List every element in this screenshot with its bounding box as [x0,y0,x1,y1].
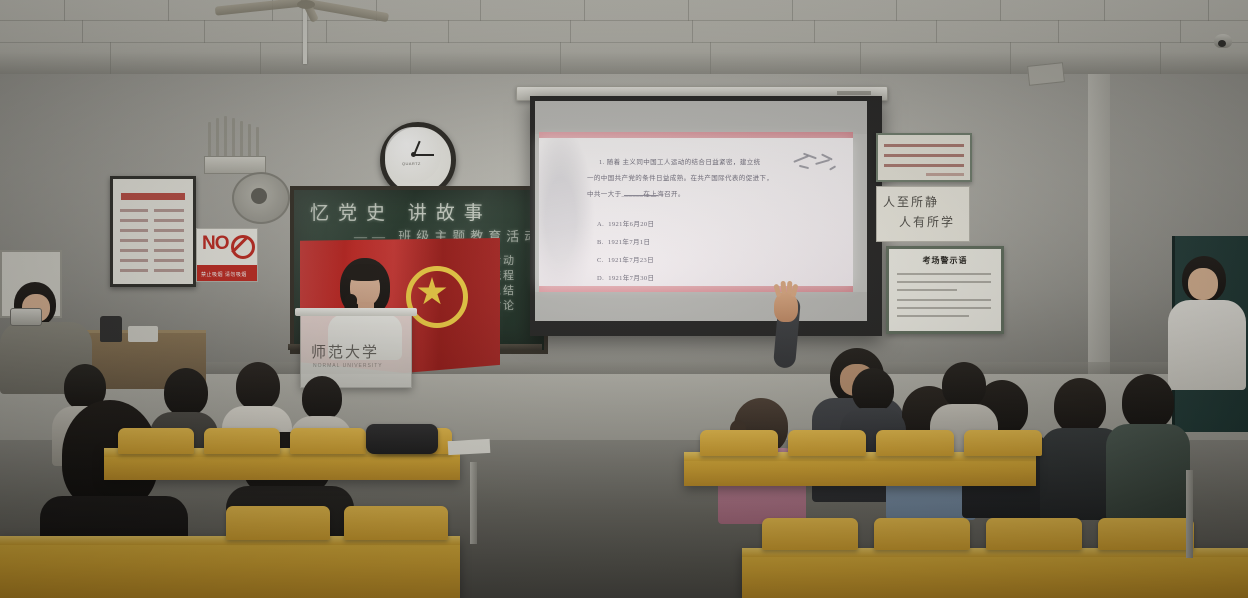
screen-margin-top [535,101,867,134]
calligraphy-line-1: 人至所静 [883,193,939,210]
framed-notice-left [110,176,196,287]
security-camera-icon [1214,34,1232,48]
slide-bottom-band [539,286,853,292]
slide-question-line-1: 1. 随着 主义同中国工人运动的结合日益紧密，建立统 [599,156,761,166]
podium-top [295,308,417,316]
cups [128,326,158,342]
podium-label: 师范大学 [311,341,379,362]
wall-fan [232,172,290,224]
seat-back [874,518,970,550]
paper-on-desk [448,439,491,455]
slide-blank-underline [624,195,658,196]
calligraphy-line-2: 人有所学 [899,213,955,230]
slide-question-line-3: 中共一大于______在上海召开。 [587,188,685,198]
phone-recording [10,308,42,326]
seat-back [118,428,194,454]
wall-pilaster [1088,74,1110,384]
raised-hand [774,292,798,322]
seat-back [1098,518,1194,550]
crane-icon [791,152,837,172]
slide-option-d: D. 1921年7月30日 [597,272,654,282]
seat-back [762,518,858,550]
seat-back [226,506,330,540]
presenter-fringe [344,264,386,281]
no-smoking-band: 禁止吸烟 请勿吸烟 [197,265,257,281]
desk-row-front [742,548,1248,598]
no-smoking-band-text: 禁止吸烟 请勿吸烟 [201,271,247,278]
clock-minute-hand [414,154,434,156]
seat-back [876,430,954,456]
seat-back [290,428,366,454]
student [1106,374,1192,514]
slide-option-c: C. 1921年7月23日 [597,254,654,264]
fan-blade [215,0,305,16]
seat-back [204,428,280,454]
seat-back [344,506,448,540]
desk-leg [470,462,477,544]
roller-label [837,91,871,95]
seat-back [964,430,1042,456]
calligraphy-panel: 人至所静 人有所学 [876,186,970,242]
no-smoking-text: NO [202,233,229,255]
slide-option-a: A. 1921年6月20日 [597,218,654,228]
no-smoking-sign: NO 禁止吸烟 请勿吸烟 [196,228,258,282]
classroom-photo: NO 禁止吸烟 请勿吸烟 QUARTZ 忆党史 讲故事 —— 班级主题教育活动 … [0,0,1248,598]
wall-bracket [204,116,264,172]
backpack-on-desk [366,424,438,454]
seat-back [788,430,866,456]
blackboard-heading: 忆党史 讲故事 [310,198,492,225]
slide-question-line-2: 一的中国共产党的条件日益成熟。在共产国际代表的促进下， [587,172,773,182]
desk-row-front [0,536,460,598]
slide-content: 1. 随着 主义同中国工人运动的结合日益紧密，建立统 一的中国共产党的条件日益成… [539,138,853,286]
standing-observer [1168,256,1248,386]
clock-brand-text: QUARTZ [402,161,421,166]
seat-back [700,430,778,456]
exam-notice: 考场警示语 [886,246,1004,334]
slide-option-b: B. 1921年7月1日 [597,236,650,246]
podium-sublabel: NORMAL UNIVERSITY [313,363,383,369]
screen-margin-bottom [535,292,867,321]
wall-speaker [1027,62,1065,86]
fan-hub [297,0,315,9]
exam-notice-title: 考场警示语 [889,255,1001,266]
projection-screen: 1. 随着 主义同中国工人运动的结合日益紧密，建立统 一的中国共产党的条件日益成… [530,96,882,336]
desk-leg [1186,470,1193,558]
seat-back [986,518,1082,550]
desk-row [684,452,1036,486]
ink-wash-decoration [539,138,601,286]
school-motto-plaque [876,133,972,182]
framed-notice-title [121,193,185,200]
